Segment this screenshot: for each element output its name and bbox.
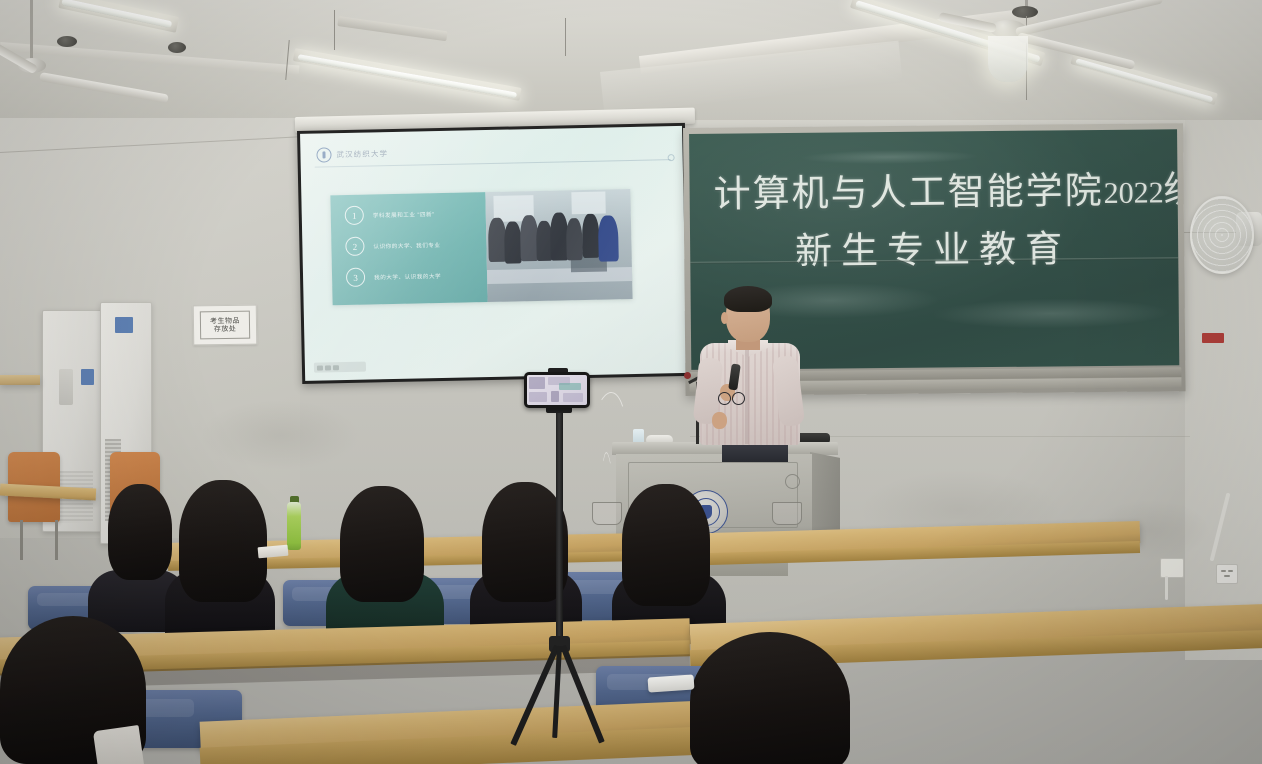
list-item: 3 我的大学、认识我的大学: [346, 265, 487, 287]
presenter-control-bar[interactable]: [314, 362, 366, 373]
cup-holder-right-icon: [772, 502, 802, 525]
ac-display-panel: [59, 369, 73, 405]
bullet-text: 认识你的大学、我们专业: [373, 241, 440, 250]
slide-header-dot-icon: [668, 154, 675, 161]
slide-content: 1 学科发展和工业 "四新" 2 认识你的大学、我们专业 3 我的大学、认识我的…: [330, 189, 632, 305]
hanging-wire-2: [334, 10, 335, 50]
outlet-slot: [1224, 575, 1230, 577]
blackboard-title-line-1: 计算机与人工智能学院2022级: [713, 159, 1179, 218]
bullet-number: 1: [345, 206, 364, 225]
photo-person: [598, 215, 619, 261]
lens-left: [718, 392, 731, 405]
lecture-hall-photo: 考生物品 存放处 武汉纺织大学 1 学科发展和工业 "四新" 2: [0, 0, 1262, 764]
wall-pipe: [1165, 576, 1168, 600]
chair-leg: [20, 520, 23, 560]
student-hair: [622, 484, 710, 606]
wall-red-label: [1202, 333, 1224, 343]
control-icon[interactable]: [325, 365, 331, 370]
power-outlet[interactable]: [1216, 564, 1238, 584]
wall-smudge-3: [200, 400, 360, 470]
slide-university-logo: 武汉纺织大学: [316, 146, 388, 162]
photo-person: [566, 218, 583, 260]
blackboard-year: 2022: [1103, 176, 1163, 210]
ceiling-fan-2-mount: [1012, 6, 1038, 18]
wall-fan-icon[interactable]: [1190, 196, 1254, 274]
eyeglasses: [718, 392, 744, 405]
ceiling-fan-1-rod: [30, 0, 33, 62]
phone-screen-block: [551, 391, 559, 402]
wall-sign-line2: 存放处: [214, 325, 237, 332]
photo-window: [571, 192, 605, 215]
chair-leg: [55, 520, 58, 560]
control-icon[interactable]: [333, 365, 339, 370]
list-item: 1 学科发展和工业 "四新": [345, 203, 486, 225]
slide-agenda-panel: 1 学科发展和工业 "四新" 2 认识你的大学、我们专业 3 我的大学、认识我的…: [330, 192, 487, 305]
presenter: [694, 288, 804, 456]
blackboard-grade: 级: [1163, 170, 1179, 211]
hanging-wire-3: [565, 18, 566, 56]
bullet-text: 学科发展和工业 "四新": [373, 210, 435, 219]
student-hair: [690, 632, 850, 764]
ceiling-hook-1: [57, 36, 77, 47]
lectern-knob[interactable]: [785, 474, 800, 489]
phone-screen-block: [529, 392, 547, 402]
slide-photo: [485, 189, 632, 302]
green-tea-bottle[interactable]: [287, 502, 301, 550]
ceiling-hook-2: [168, 42, 186, 53]
tripod-column: [556, 405, 563, 645]
wall-sign-line1: 考生物品: [210, 317, 240, 324]
control-icon[interactable]: [317, 365, 323, 370]
list-item: 2 认识你的大学、我们专业: [345, 234, 486, 256]
bullet-number: 3: [346, 268, 365, 287]
projected-slide: 武汉纺织大学 1 学科发展和工业 "四新" 2 认识你的大学、我们专业 3: [300, 126, 687, 381]
presenter-shirt-placket: [745, 350, 749, 444]
bullet-number: 2: [345, 237, 364, 256]
wall-sign-border: 考生物品 存放处: [200, 311, 250, 340]
phone-screen-block: [529, 377, 545, 389]
university-crest-icon: [316, 147, 331, 162]
ac-brand-label: [115, 317, 133, 333]
slide-university-name: 武汉纺织大学: [336, 148, 388, 160]
student-hair: [108, 484, 172, 580]
side-desk-left-2: [0, 375, 40, 385]
lens-right: [732, 392, 745, 405]
microphone-head-icon: [684, 372, 691, 379]
phone-screen-block: [559, 383, 581, 390]
presenter-hair: [724, 286, 772, 312]
student-hair: [179, 480, 267, 602]
blackboard-title-line-2: 新生专业教育: [795, 218, 1072, 275]
photo-person: [582, 214, 600, 258]
bullet-text: 我的大学、认识我的大学: [374, 272, 441, 281]
ac-brand-label: [81, 369, 94, 385]
face-mask: [93, 725, 145, 764]
chalk-dust: [931, 297, 1171, 329]
presenter-hand-right: [712, 412, 727, 429]
presenter-ear: [721, 312, 728, 324]
blackboard-faculty: 计算机与人工智能学院: [713, 171, 1103, 216]
projector-screen-frame: 武汉纺织大学 1 学科发展和工业 "四新" 2 认识你的大学、我们专业 3: [297, 123, 690, 384]
phone-screen-block: [563, 393, 583, 402]
photo-person: [504, 221, 522, 263]
smartphone-recorder[interactable]: [524, 372, 590, 408]
phone-screen[interactable]: [527, 375, 587, 405]
student-hair: [340, 486, 424, 602]
power-bank[interactable]: [648, 674, 695, 692]
photo-desk: [487, 267, 632, 284]
outlet-slot: [1221, 570, 1226, 572]
wall-sign-storage: 考生物品 存放处: [193, 305, 258, 346]
ceiling-fan-lamp: [988, 36, 1028, 82]
light-switch-plate[interactable]: [1160, 558, 1184, 578]
outlet-slot: [1228, 570, 1233, 572]
